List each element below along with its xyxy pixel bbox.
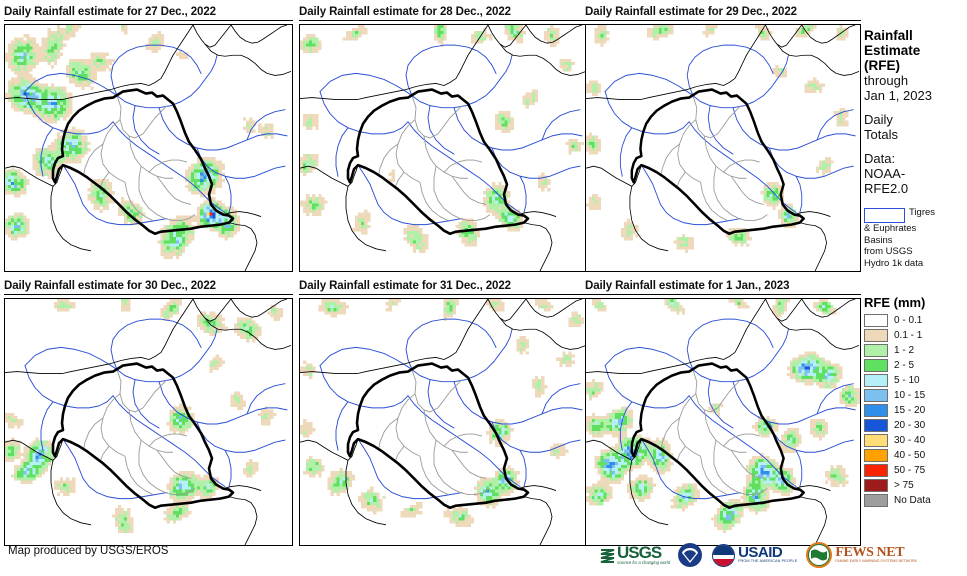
rfe-class-row: 5 - 10 [864,373,967,388]
usaid-tagline: FROM THE AMERICAN PEOPLE [738,559,797,564]
rfe-class-row: 30 - 40 [864,433,967,448]
rfe-class-swatch [864,314,888,327]
legend-data-line3: RFE2.0 [864,181,967,196]
noaa-bird-icon [681,547,699,564]
panel-2-canvas [300,25,587,271]
legend-panel: Rainfall Estimate (RFE) through Jan 1, 2… [864,0,967,576]
panel-5-title: Daily Rainfall estimate for 31 Dec., 202… [299,278,588,295]
rfe-class-swatch [864,329,888,342]
rfe-class-swatch [864,389,888,402]
legend-title-line1: Rainfall [864,28,967,43]
basin-line4: from USGS [864,246,967,258]
rfe-class-swatch [864,479,888,492]
rfe-class-swatch [864,344,888,357]
rfe-scale-header: RFE (mm) [864,295,967,310]
rfe-class-label: 30 - 40 [894,435,925,446]
usaid-seal-icon [712,544,735,567]
rfe-class-label: 1 - 2 [894,345,914,356]
basin-line1: Tigres [909,207,935,219]
usgs-wave-icon [600,547,616,564]
rfe-class-row: No Data [864,493,967,508]
panel-6: Daily Rainfall estimate for 1 Jan., 2023 [585,278,861,546]
rfe-class-row: 15 - 20 [864,403,967,418]
panel-6-canvas [586,299,860,545]
rfe-class-label: 5 - 10 [894,375,920,386]
panel-3-title: Daily Rainfall estimate for 29 Dec., 202… [585,4,861,21]
map-credit: Map produced by USGS/EROS [8,545,168,557]
panel-5: Daily Rainfall estimate for 31 Dec., 202… [299,278,588,546]
rfe-class-list: 0 - 0.10.1 - 11 - 22 - 55 - 1010 - 1515 … [864,313,967,508]
rfe-scale: RFE (mm) 0 - 0.10.1 - 11 - 22 - 55 - 101… [864,295,967,508]
usaid-wordmark: USAID [738,546,797,559]
panel-4-canvas [5,299,292,545]
rfe-class-swatch [864,419,888,432]
legend-data-line2: NOAA- [864,166,967,181]
noaa-logo [678,542,702,568]
panel-4-map[interactable] [4,298,293,546]
rfe-class-row: 40 - 50 [864,448,967,463]
rfe-class-row: 1 - 2 [864,343,967,358]
panel-3-canvas [586,25,860,271]
panel-1-map[interactable] [4,24,293,272]
fews-tagline: FAMINE EARLY WARNING SYSTEMS NETWORK [835,559,917,564]
rfe-class-swatch [864,374,888,387]
rfe-class-row: > 75 [864,478,967,493]
rfe-class-label: 10 - 15 [894,390,925,401]
panel-2: Daily Rainfall estimate for 28 Dec., 202… [299,4,588,272]
usgs-tagline: science for a changing world [617,560,670,565]
rfe-class-label: No Data [894,495,931,506]
panel-5-canvas [300,299,587,545]
panel-2-title: Daily Rainfall estimate for 28 Dec., 202… [299,4,588,21]
basin-legend: Tigres & Euphrates Basins from USGS Hydr… [864,207,967,269]
rfe-class-row: 50 - 75 [864,463,967,478]
panel-6-title: Daily Rainfall estimate for 1 Jan., 2023 [585,278,861,295]
rfe-class-label: > 75 [894,480,914,491]
legend-totals-line1: Daily [864,112,967,127]
rfe-class-swatch [864,494,888,507]
usaid-logo: USAID FROM THE AMERICAN PEOPLE [712,542,797,568]
rfe-class-swatch [864,359,888,372]
panel-4: Daily Rainfall estimate for 30 Dec., 202… [4,278,293,546]
rfe-class-label: 50 - 75 [894,465,925,476]
legend-through-label: through [864,73,967,88]
rfe-class-row: 20 - 30 [864,418,967,433]
logo-strip: USGS science for a changing world USAID … [600,540,917,570]
fews-globe-icon [806,542,832,568]
rfe-class-swatch [864,464,888,477]
panel-1-canvas [5,25,292,271]
usgs-wordmark: USGS [617,545,670,560]
panel-3-map[interactable] [585,24,861,272]
rfe-class-label: 2 - 5 [894,360,914,371]
rfe-class-swatch [864,449,888,462]
rfe-class-row: 0.1 - 1 [864,328,967,343]
basin-line3: Basins [864,235,967,247]
rfe-class-row: 10 - 15 [864,388,967,403]
basin-line2: & Euphrates [864,223,967,235]
legend-through-date: Jan 1, 2023 [864,88,967,103]
fews-wordmark: FEWS NET [835,546,917,559]
usgs-logo: USGS science for a changing world [600,542,670,568]
panel-1-title: Daily Rainfall estimate for 27 Dec., 202… [4,4,293,21]
panel-4-title: Daily Rainfall estimate for 30 Dec., 202… [4,278,293,295]
panel-3: Daily Rainfall estimate for 29 Dec., 202… [585,4,861,272]
panel-6-map[interactable] [585,298,861,546]
basin-swatch-icon [864,208,905,223]
panel-5-map[interactable] [299,298,588,546]
fews-logo: FEWS NET FAMINE EARLY WARNING SYSTEMS NE… [806,542,917,568]
noaa-seal-icon [678,543,702,567]
legend-title-line3: (RFE) [864,58,967,73]
rfe-class-swatch [864,434,888,447]
legend-data-line1: Data: [864,151,967,166]
legend-title-line2: Estimate [864,43,967,58]
panel-1: Daily Rainfall estimate for 27 Dec., 202… [4,4,293,272]
basin-line5: Hydro 1k data [864,258,967,270]
rfe-class-row: 0 - 0.1 [864,313,967,328]
rfe-class-row: 2 - 5 [864,358,967,373]
panel-2-map[interactable] [299,24,588,272]
rfe-class-label: 20 - 30 [894,420,925,431]
rfe-class-swatch [864,404,888,417]
rfe-class-label: 0.1 - 1 [894,330,922,341]
rfe-class-label: 40 - 50 [894,450,925,461]
rfe-class-label: 15 - 20 [894,405,925,416]
rfe-map-page: Daily Rainfall estimate for 27 Dec., 202… [0,0,967,576]
rfe-class-label: 0 - 0.1 [894,315,922,326]
legend-totals-line2: Totals [864,127,967,142]
